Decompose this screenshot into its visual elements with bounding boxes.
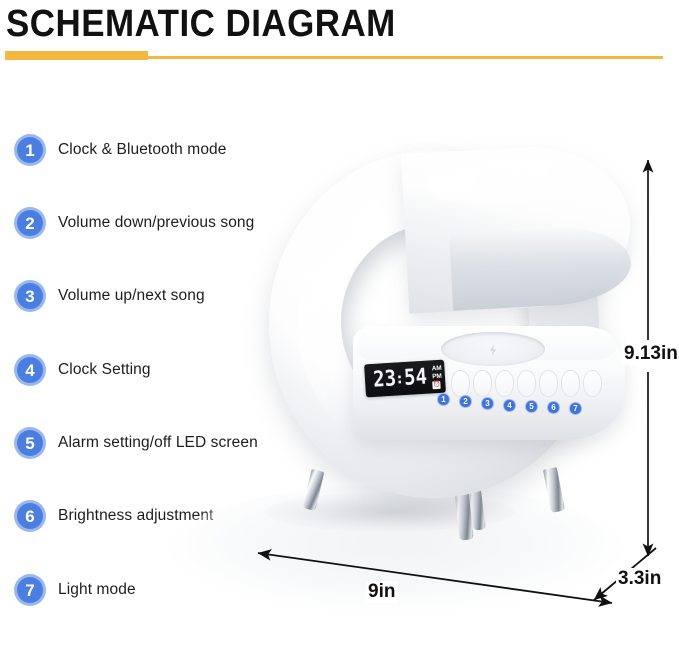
control-badge-5: 5: [525, 400, 538, 413]
led-ampm-indicators: AM PM ⏰: [431, 364, 445, 389]
led-time-readout: 2 3 : 5 4: [364, 367, 432, 390]
lamp-arc-tail-shadow: [449, 223, 633, 310]
legend-label-1: Clock & Bluetooth mode: [58, 141, 226, 159]
dimension-label-width: 9in: [366, 581, 397, 603]
control-pad-4[interactable]: [517, 370, 536, 397]
title-underline-thin: [148, 56, 663, 59]
legend-item-5: 5 Alarm setting/off LED screen: [14, 426, 258, 460]
charging-bolt-icon: [486, 343, 500, 357]
title-underline-thick: [5, 51, 148, 60]
control-badge-number: 6: [551, 404, 555, 412]
control-badge-number: 7: [573, 405, 577, 413]
legend-label-5: Alarm setting/off LED screen: [58, 434, 258, 452]
led-digit-minute-tens: 5: [403, 367, 415, 389]
legend-item-1: 1 Clock & Bluetooth mode: [14, 133, 226, 167]
led-am-label: AM: [431, 364, 441, 372]
dimension-label-depth: 3.3in: [616, 568, 663, 590]
alarm-clock-icon: ⏰: [432, 380, 440, 388]
control-pad-6[interactable]: [561, 370, 580, 397]
legend-label-3: Volume up/next song: [58, 287, 205, 305]
legend-item-7: 7 Light mode: [14, 573, 136, 607]
control-pad-5[interactable]: [539, 370, 558, 397]
legend-badge-number: 4: [25, 362, 34, 379]
control-pad-2[interactable]: [473, 370, 492, 397]
legend-badge-3: 3: [14, 280, 46, 312]
page-title: SCHEMATIC DIAGRAM: [6, 2, 396, 46]
legend-badge-2: 2: [14, 207, 46, 239]
led-digit-hour-ones: 3: [384, 368, 396, 390]
legend-badge-number: 6: [25, 508, 34, 525]
legend-badge-number: 2: [25, 215, 34, 232]
control-pad-3[interactable]: [495, 370, 514, 397]
legend-item-2: 2 Volume down/previous song: [14, 206, 254, 240]
legend-item-3: 3 Volume up/next song: [14, 279, 205, 313]
legend-badge-number: 3: [25, 288, 34, 305]
legend-item-4: 4 Clock Setting: [14, 353, 151, 387]
control-badge-2: 2: [459, 395, 472, 408]
led-pm-label: PM: [432, 372, 442, 380]
control-badge-1: 1: [437, 393, 450, 406]
led-clock-display: 2 3 : 5 4 AM PM ⏰: [364, 360, 446, 398]
led-digit-hour-tens: 2: [373, 369, 385, 391]
product-illustration: 2 3 : 5 4 AM PM ⏰ 1 2 3 4 5 6 7: [255, 140, 635, 620]
led-digit-minute-ones: 4: [415, 366, 427, 388]
legend-badge-number: 7: [25, 582, 34, 599]
legend-badge-6: 6: [14, 500, 46, 532]
control-badge-4: 4: [503, 399, 516, 412]
legend-badge-number: 5: [25, 435, 34, 452]
control-pad-7[interactable]: [583, 370, 602, 397]
legend-label-2: Volume down/previous song: [58, 214, 254, 232]
legend-badge-4: 4: [14, 354, 46, 386]
control-badge-number: 3: [485, 400, 489, 408]
control-badge-number: 2: [463, 398, 467, 406]
control-badge-number: 5: [529, 403, 533, 411]
dimension-label-height: 9.13in: [622, 343, 679, 365]
control-badge-number: 1: [441, 396, 445, 404]
legend-label-4: Clock Setting: [58, 361, 151, 379]
legend-badge-number: 1: [25, 142, 34, 159]
control-badge-number: 4: [507, 402, 511, 410]
control-badge-6: 6: [547, 401, 560, 414]
legend-badge-1: 1: [14, 134, 46, 166]
control-badge-7: 7: [569, 402, 582, 415]
legend-badge-5: 5: [14, 427, 46, 459]
legend-label-7: Light mode: [58, 581, 136, 599]
legend-badge-7: 7: [14, 574, 46, 606]
control-pad-1[interactable]: [451, 370, 470, 397]
control-badge-3: 3: [481, 397, 494, 410]
